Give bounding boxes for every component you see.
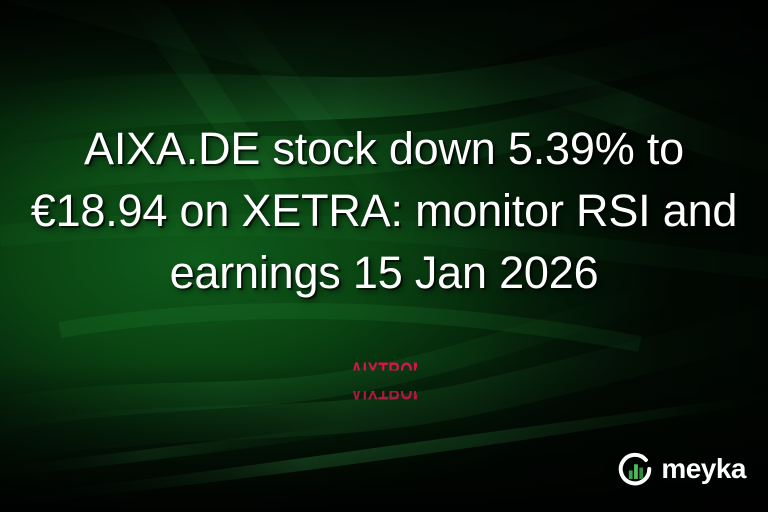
meyka-wordmark: meyka [661, 455, 746, 483]
aixtron-brandmark-label: AIXTRON [351, 360, 417, 382]
aixtron-brandmark: AIXTRON AIXTRON [0, 360, 768, 410]
social-share-card: AIXA.DE stock down 5.39% to €18.94 on XE… [0, 0, 768, 512]
meyka-logo[interactable]: meyka [616, 450, 746, 488]
aixtron-brandmark-reflection: AIXTRON [351, 380, 417, 402]
bar-chart-in-ring-icon [616, 450, 654, 488]
page-title: AIXA.DE stock down 5.39% to €18.94 on XE… [28, 118, 740, 304]
aixtron-brandmark-inner: AIXTRON AIXTRON [338, 360, 430, 406]
